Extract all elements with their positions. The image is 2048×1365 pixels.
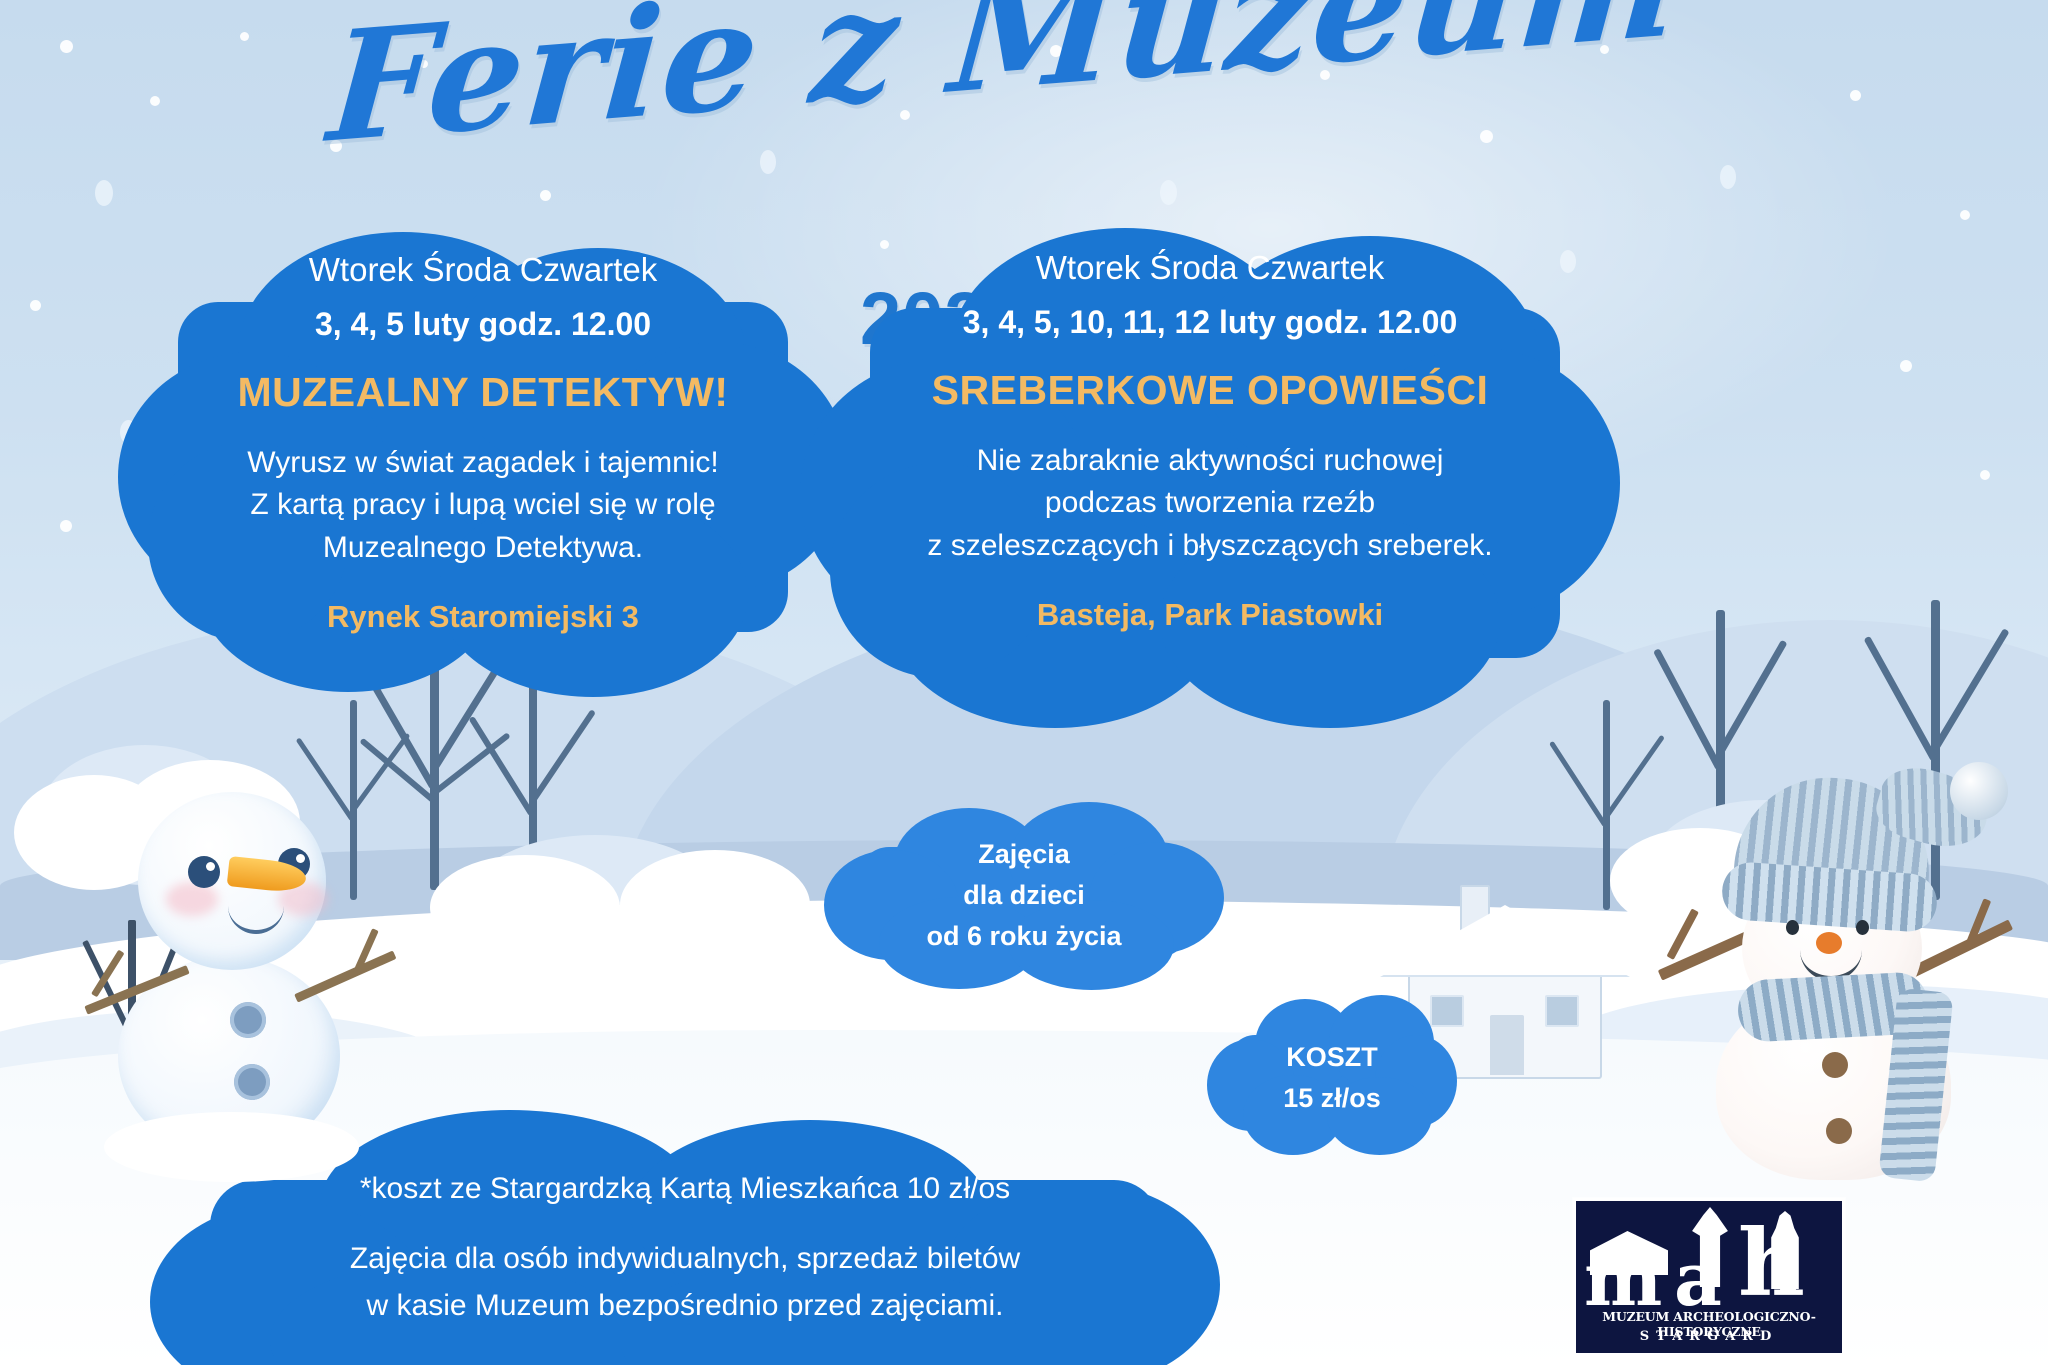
right-cloud-body-line: podczas tworzenia rzeźb xyxy=(845,482,1575,525)
snowflake xyxy=(1720,165,1736,189)
snowflake xyxy=(1980,470,1990,480)
snowman-eye-glint xyxy=(206,862,215,871)
museum-logo: m a h MUZEUM ARCHEOLOGICZNO-HISTORYCZNE … xyxy=(1573,1198,1845,1356)
snowman-arm xyxy=(1666,908,1698,959)
snowman-button xyxy=(234,1064,270,1100)
age-cloud-line: dla dzieci xyxy=(844,875,1204,916)
poster-title-block: Ferie z Muzeum xyxy=(330,10,1330,260)
snowflake xyxy=(1900,360,1912,372)
snowflake xyxy=(1960,210,1970,220)
bottom-cloud-info-line: Zajęcia dla osób indywidualnych, sprzeda… xyxy=(190,1236,1180,1283)
poster-title: Ferie z Muzeum xyxy=(324,0,1333,168)
left-cloud-body-line: Wyrusz w świat zagadek i tajemnic! xyxy=(158,442,808,485)
cottage-roof xyxy=(1380,905,1630,975)
snowman-arm xyxy=(1908,919,2013,978)
snowman-cheek xyxy=(166,882,218,916)
right-cloud-days: Wtorek Środa Czwartek xyxy=(845,248,1575,288)
age-cloud-line: od 6 roku życia xyxy=(844,916,1204,957)
snowman-hat-pompom xyxy=(1950,762,2008,820)
snowman-eye xyxy=(188,856,220,888)
snowflake xyxy=(60,40,73,53)
snowman-eye xyxy=(1786,920,1799,935)
snowman-button xyxy=(1822,1052,1848,1078)
right-cloud-location: Basteja, Park Piastowki xyxy=(845,597,1575,633)
snowflake xyxy=(240,32,249,41)
right-cloud-body: Nie zabraknie aktywności ruchowej podcza… xyxy=(845,440,1575,568)
right-cloud-body-line: Nie zabraknie aktywności ruchowej xyxy=(845,440,1575,483)
snowman-button xyxy=(230,1002,266,1038)
right-cloud-body-line: z szeleszczących i błyszczących srebe­re… xyxy=(845,525,1575,568)
left-program-cloud: Wtorek Środa Czwartek 3, 4, 5 luty godz.… xyxy=(118,232,848,702)
right-program-cloud: Wtorek Środa Czwartek 3, 4, 5, 10, 11, 1… xyxy=(800,228,1620,728)
left-cloud-body-line: Z kartą pracy i lupą wciel się w rolę xyxy=(158,484,808,527)
left-cloud-dates: 3, 4, 5 luty godz. 12.00 xyxy=(158,306,808,343)
snowman-button xyxy=(1826,1118,1852,1144)
left-cloud-location: Rynek Staromiejski 3 xyxy=(158,599,808,635)
right-cloud-dates: 3, 4, 5, 10, 11, 12 luty godz. 12.00 xyxy=(845,304,1575,341)
snowman-left xyxy=(60,760,390,1180)
snowman-arm xyxy=(294,950,396,1002)
age-requirement-cloud: Zajęcia dla dzieci od 6 roku życia xyxy=(824,802,1224,992)
snowflake xyxy=(1480,130,1493,143)
age-cloud-line: Zajęcia xyxy=(844,834,1204,875)
snowflake xyxy=(150,96,160,106)
snowman-eye-glint xyxy=(296,854,305,863)
snowman-eye xyxy=(1856,920,1869,935)
bottom-cloud-info: Zajęcia dla osób indywidualnych, sprzeda… xyxy=(190,1236,1180,1329)
cost-price: 15 zł/os xyxy=(1217,1078,1447,1119)
left-cloud-body-line: Muzealnego Detektywa. xyxy=(158,527,808,570)
logo-caption-city: STARGARD xyxy=(1576,1329,1842,1344)
logo-letter-h: h xyxy=(1738,1217,1805,1309)
left-cloud-body: Wyrusz w świat zagadek i tajemnic! Z kar… xyxy=(158,442,808,570)
cottage-door xyxy=(1490,1015,1524,1075)
logo-letter-a: a xyxy=(1674,1243,1722,1309)
snowflake xyxy=(60,520,72,532)
cost-cloud-text: KOSZT 15 zł/os xyxy=(1217,1037,1447,1119)
cottage-window xyxy=(1545,995,1579,1027)
cost-cloud: KOSZT 15 zł/os xyxy=(1207,995,1457,1160)
bottom-cloud-note: *koszt ze Stargardzką Kartą Mieszkańca 1… xyxy=(190,1172,1180,1206)
left-cloud-heading: MUZEALNY DETEKTYW! xyxy=(158,369,808,416)
age-cloud-text: Zajęcia dla dzieci od 6 roku życia xyxy=(844,834,1204,957)
poster-canvas: Ferie z Muzeum 2026 Wtorek Środa Czwarte… xyxy=(0,0,2048,1365)
logo-letter-m: m xyxy=(1584,1243,1662,1309)
snowflake xyxy=(95,180,113,206)
cost-label: KOSZT xyxy=(1217,1037,1447,1078)
snowman-right xyxy=(1650,740,2020,1180)
left-cloud-days: Wtorek Środa Czwartek xyxy=(158,250,808,290)
right-cloud-heading: SREBERKOWE OPOWIEŚCI xyxy=(845,367,1575,414)
snowflake xyxy=(1850,90,1861,101)
bottom-cloud-info-line: w kasie Muzeum bezpośrednio przed zajęci… xyxy=(190,1283,1180,1330)
logo-mark: m a h xyxy=(1576,1201,1842,1309)
snowflake xyxy=(30,300,41,311)
